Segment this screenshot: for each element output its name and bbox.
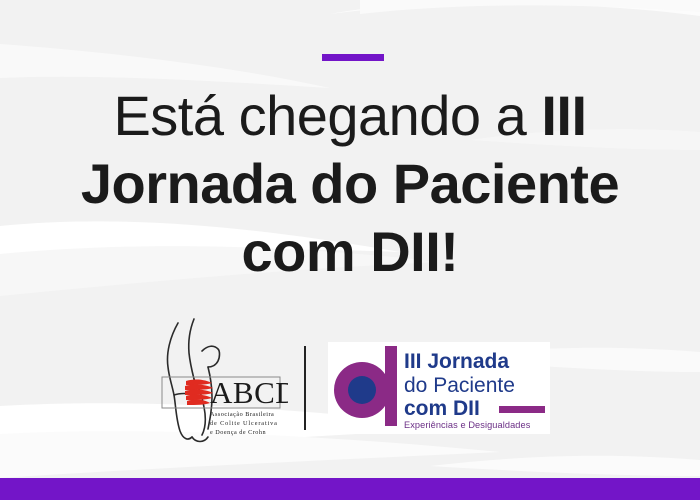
abcd-subtitle-line-1: Associação Brasileira [210, 411, 274, 418]
bottom-accent-bar [0, 478, 700, 500]
intestine-mark-icon [185, 380, 213, 405]
headline-line-1: Está chegando a III [0, 88, 700, 144]
jornada-tagline: Experiências e Desigualdades [404, 420, 531, 430]
jornada-line-2: do Paciente [404, 374, 515, 397]
jornada-line-3: com DII [404, 397, 480, 420]
logo-strip: ABCD Associação Brasileira de Colite Ulc… [0, 310, 700, 450]
jornada-logo: III Jornada do Paciente com DII Experiên… [328, 342, 550, 434]
promo-banner: Está chegando a III Jornada do Paciente … [0, 0, 700, 500]
abcd-acronym: ABCD [210, 375, 288, 410]
abcd-logo: ABCD Associação Brasileira de Colite Ulc… [150, 315, 288, 445]
page-title: Está chegando a III Jornada do Paciente … [0, 88, 700, 280]
abcd-subtitle-line-2: de Colite Ulcerativa [210, 420, 278, 427]
headline-line-1-emphasis: III [541, 84, 586, 147]
jornada-rule [499, 406, 545, 413]
headline-line-2: Jornada do Paciente [0, 156, 700, 212]
jornada-line-1: III Jornada [404, 350, 509, 373]
abcd-subtitle-line-3: e Doença de Crohn [210, 429, 266, 436]
logo-divider [304, 346, 306, 430]
headline-line-1-text: Está chegando a [113, 84, 541, 147]
headline-line-3: com DII! [0, 224, 700, 280]
top-accent-bar [322, 54, 384, 61]
